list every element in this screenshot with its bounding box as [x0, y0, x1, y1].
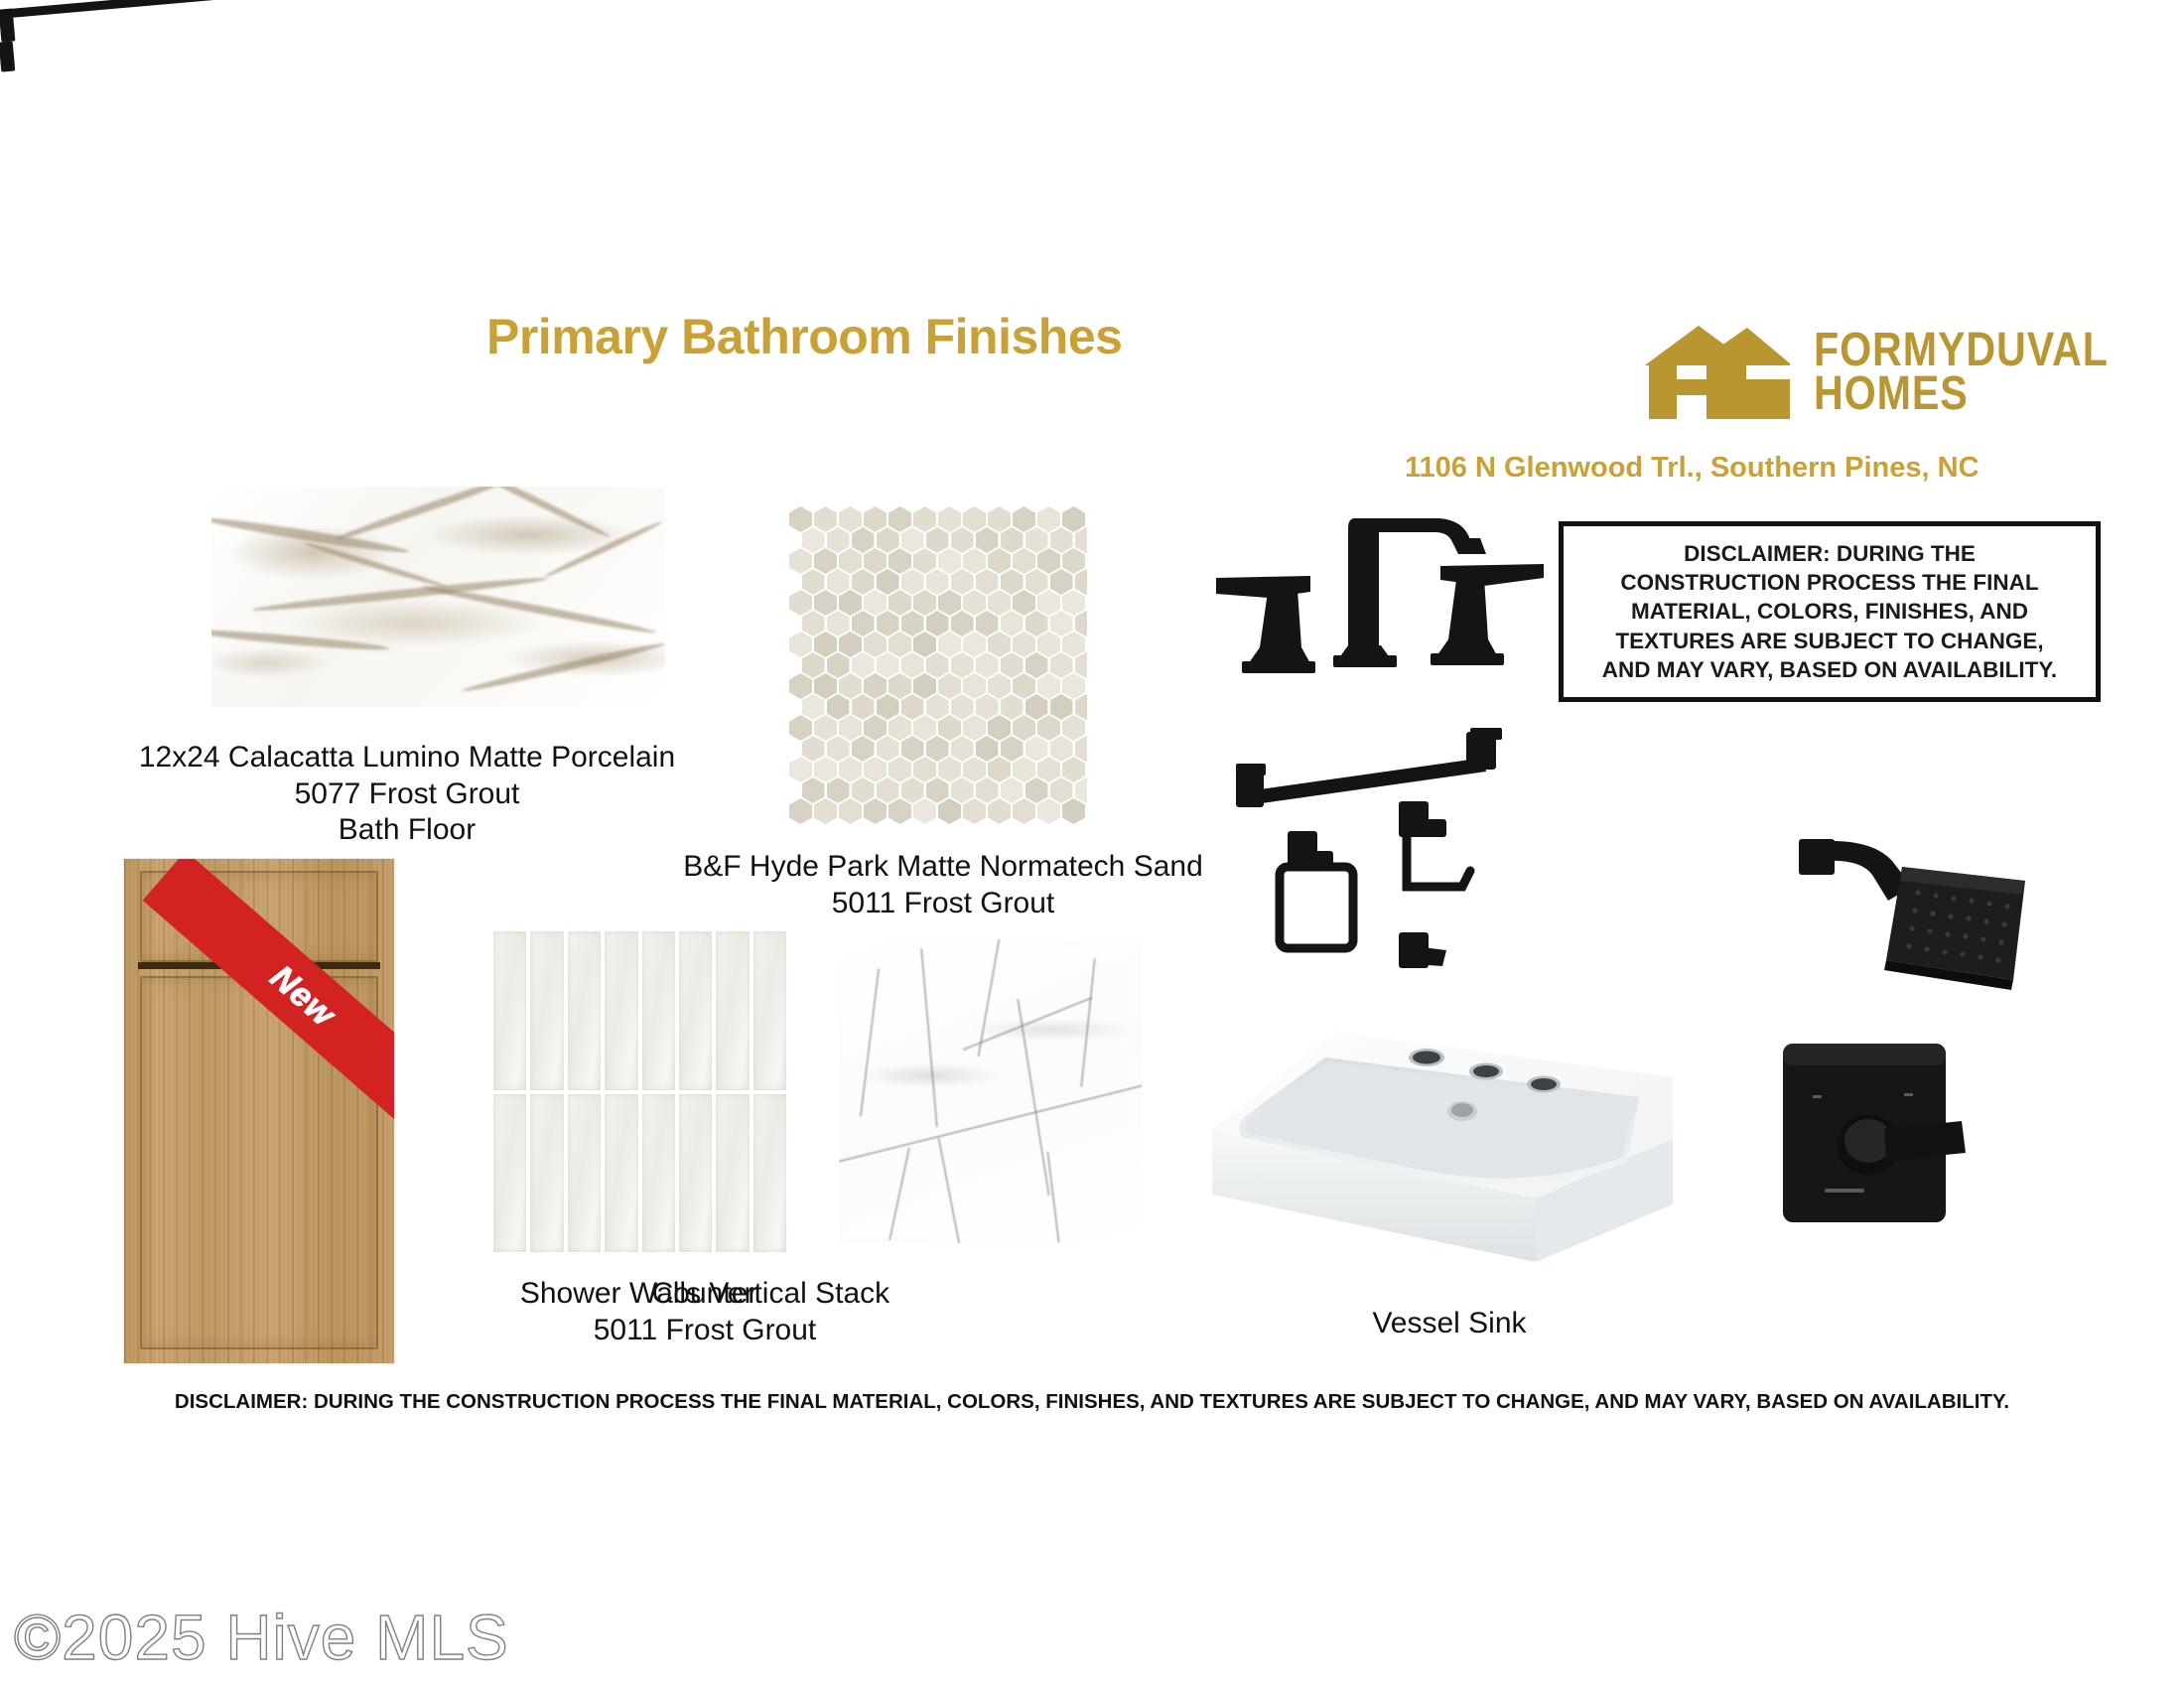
- towel-bar-image: [0, 0, 223, 19]
- hex-tile: [864, 798, 887, 824]
- sample-swatch-cabinet-door: New: [124, 859, 394, 1363]
- wall-tile: [493, 1094, 526, 1253]
- sample-swatch-hex-mosaic: [789, 506, 1087, 824]
- wall-tile: [568, 931, 601, 1090]
- wall-tile: [753, 1094, 786, 1253]
- hex-mosaic-row: [802, 527, 1088, 548]
- company-address: 1106 N Glenwood Trl., Southern Pines, NC: [1405, 452, 1979, 485]
- sample-label-counter: Counter: [556, 1276, 854, 1313]
- hex-tile: [1037, 798, 1060, 824]
- footer-disclaimer: DISCLAIMER: DURING THE CONSTRUCTION PROC…: [0, 1390, 2184, 1414]
- hex-mosaic-row: [789, 506, 1087, 527]
- shower-head-face-icon: [1884, 867, 2025, 990]
- bath-hardware-set-image: [1236, 720, 1603, 978]
- sample-swatch-floor-tile: [211, 487, 665, 707]
- wall-tile: [642, 1094, 675, 1253]
- page-title: Primary Bathroom Finishes: [486, 308, 1122, 365]
- hex-tile: [963, 798, 986, 824]
- shower-valve-trim-image: [1777, 1038, 1995, 1296]
- sample-swatch-shower-wall: [493, 931, 786, 1252]
- hex-mosaic-row: [802, 611, 1088, 632]
- label-line: 5011 Frost Grout: [377, 1313, 1032, 1349]
- disclaimer-line: MATERIAL, COLORS, FINISHES, AND: [1631, 597, 2028, 626]
- wall-tile: [568, 1094, 601, 1253]
- hex-tile: [789, 798, 812, 824]
- wall-tile: [493, 931, 526, 1090]
- toilet-paper-holder-icon: [1399, 801, 1470, 887]
- house-fh-monogram-icon: [1643, 318, 1792, 427]
- hex-tile: [888, 798, 911, 824]
- hex-tile: [1013, 798, 1035, 824]
- wall-tile: [642, 931, 675, 1090]
- disclaimer-line: CONSTRUCTION PROCESS THE FINAL: [1620, 568, 2038, 597]
- sample-swatch-counter: [839, 938, 1142, 1243]
- wall-tile: [605, 931, 637, 1090]
- watermark: ©2025 Hive MLS: [14, 1601, 509, 1674]
- wall-tile: [530, 1094, 563, 1253]
- towel-bar-icon: [1236, 728, 1502, 807]
- faucet-left-handle-icon: [1216, 576, 1315, 673]
- vessel-sink-image: [1206, 1028, 1683, 1291]
- sample-label-hex-mosaic: B&F Hyde Park Matte Normatech Sand 5011 …: [615, 849, 1271, 921]
- label-line: Counter: [556, 1276, 854, 1313]
- disclaimer-line: AND MAY VARY, BASED ON AVAILABILITY.: [1602, 655, 2057, 684]
- label-line: 5077 Frost Grout: [60, 776, 754, 813]
- wall-tile: [679, 1094, 712, 1253]
- hex-tile: [1062, 798, 1085, 824]
- hex-tile: [913, 798, 936, 824]
- towel-bar-right-post-icon: [0, 41, 15, 71]
- logo-line-1: FORMYDUVAL: [1814, 329, 2109, 372]
- hex-tile: [839, 798, 862, 824]
- disclaimer-line: TEXTURES ARE SUBJECT TO CHANGE,: [1615, 627, 2043, 655]
- robe-hook-icon: [1399, 932, 1446, 968]
- hex-tile: [814, 798, 837, 824]
- faucet-right-handle-icon: [1431, 564, 1544, 665]
- widespread-faucet-image: [1216, 506, 1564, 705]
- label-line: Vessel Sink: [1300, 1306, 1598, 1342]
- wall-tile: [530, 931, 563, 1090]
- hex-mosaic-row: [802, 569, 1088, 590]
- square-shower-head-image: [1777, 839, 2075, 1057]
- company-logo: FORMYDUVAL HOMES: [1643, 318, 2156, 427]
- label-line: 12x24 Calacatta Lumino Matte Porcelain: [60, 740, 754, 776]
- finish-board-canvas: Primary Bathroom Finishes FORMYDUVAL HOM…: [0, 0, 2184, 1688]
- sink-overflow-icon: [1447, 1101, 1477, 1121]
- shower-arm-icon: [1799, 839, 1912, 901]
- hex-tile: [988, 798, 1011, 824]
- logo-wordmark: FORMYDUVAL HOMES: [1814, 329, 2156, 416]
- hex-tile: [938, 798, 961, 824]
- wall-tile: [716, 931, 749, 1090]
- hex-mosaic-row: [802, 736, 1088, 757]
- hex-mosaic-row: [802, 652, 1088, 673]
- disclaimer-line: DISCLAIMER: DURING THE: [1684, 539, 1976, 568]
- wall-tile: [679, 931, 712, 1090]
- towel-ring-icon: [1280, 831, 1353, 948]
- hex-mosaic-row: [802, 694, 1088, 715]
- label-line: B&F Hyde Park Matte Normatech Sand: [615, 849, 1271, 886]
- wall-tile: [605, 1094, 637, 1253]
- logo-line-2: HOMES: [1814, 372, 2109, 416]
- hex-mosaic-row: [802, 777, 1088, 798]
- label-line: Bath Floor: [60, 812, 754, 849]
- sample-label-vessel-sink: Vessel Sink: [1300, 1306, 1598, 1342]
- disclaimer-box: DISCLAIMER: DURING THE CONSTRUCTION PROC…: [1559, 521, 2101, 702]
- label-line: 5011 Frost Grout: [615, 886, 1271, 922]
- sample-label-floor-tile: 12x24 Calacatta Lumino Matte Porcelain 5…: [60, 740, 754, 849]
- wall-tile: [716, 1094, 749, 1253]
- wall-tile: [753, 931, 786, 1090]
